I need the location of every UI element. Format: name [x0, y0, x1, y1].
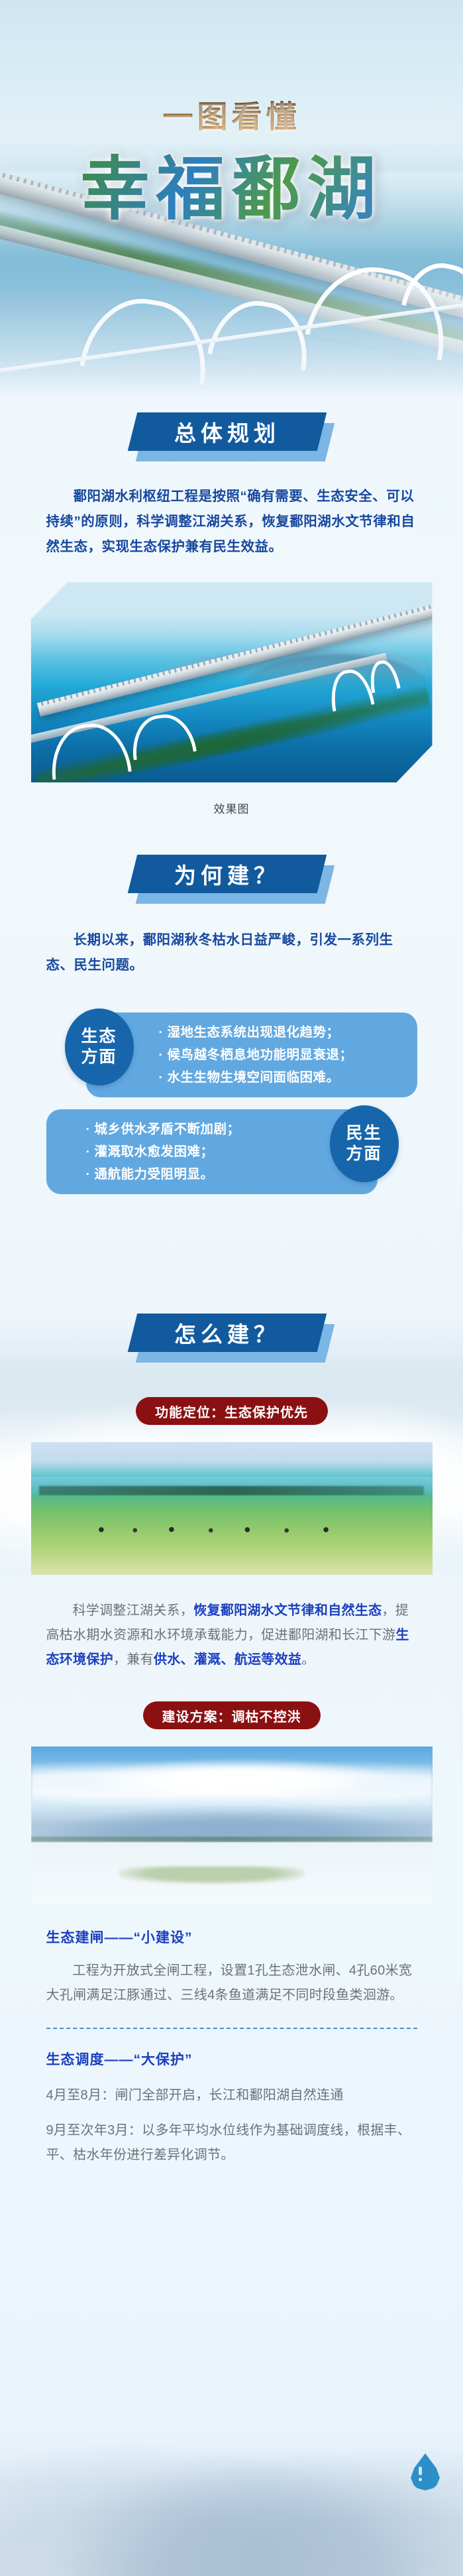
badge-main: 总体规划 — [127, 412, 326, 451]
text-run-emphasis: 恢复鄱阳湖水文节律和自然生态 — [193, 1603, 382, 1618]
render-caption: 效果图 — [0, 800, 463, 816]
list-item: 水生生物生境空间面临困难。 — [159, 1066, 405, 1089]
aspect-list-livelihood: 城乡供水矛盾不断加剧； 灌溉取水愈发困难； 通航能力受阻明显。 — [86, 1118, 305, 1186]
aspect-card-ecology: 湿地生态系统出现退化趋势； 候鸟越冬栖息地功能明显衰退； 水生生物生境空间面临困… — [46, 1009, 417, 1087]
aspect-body-ecology: 湿地生态系统出现退化趋势； 候鸟越冬栖息地功能明显衰退； 水生生物生境空间面临困… — [86, 1012, 417, 1097]
aspect-badge-line1: 生态 — [81, 1026, 117, 1047]
overall-plan-paragraph: 鄱阳湖水利枢纽工程是按照“确有需要、生态安全、可以持续”的原则，科学调整江湖关系… — [46, 484, 417, 560]
badge-main: 怎么建？ — [127, 1314, 326, 1352]
wetland-grassland-photo — [31, 1442, 433, 1575]
list-item: 湿地生态系统出现退化趋势； — [159, 1021, 405, 1044]
pill-label: 建设方案：调枯不控洪 — [162, 1706, 301, 1725]
photo-treeline — [39, 1486, 425, 1495]
function-positioning-paragraph: 科学调整江湖关系，恢复鄱阳湖水文节律和自然生态，提高枯水期水资源和水环境承载能力… — [46, 1599, 417, 1672]
hero-kicker: 一图看懂 — [0, 93, 463, 137]
water-drop-icon — [411, 2453, 440, 2490]
bottom-lake-scene — [0, 2423, 463, 2576]
aspect-list-ecology: 湿地生态系统出现退化趋势； 候鸟越冬栖息地功能明显衰退； 水生生物生境空间面临困… — [159, 1021, 405, 1089]
text-run: 。 — [301, 1652, 315, 1667]
aspect-badge-line2: 方面 — [81, 1047, 117, 1068]
eco-dispatch-line-1: 4月至8月：闸门全部开启，长江和鄱阳湖自然连通 — [46, 2083, 417, 2108]
pill-construction-plan: 建设方案：调枯不控洪 — [143, 1701, 321, 1729]
list-item: 城乡供水矛盾不断加剧； — [86, 1118, 305, 1140]
text-run: 科学调整江湖关系， — [73, 1603, 194, 1618]
subhead-eco-gate: 生态建闸——“小建设” — [46, 1927, 417, 1947]
list-item: 候鸟越冬栖息地功能明显衰退； — [159, 1044, 405, 1066]
text-run-emphasis: 供水、灌溉、航运等效益 — [154, 1652, 301, 1667]
infographic-page: 一图看懂 幸福鄱湖 总体规划 鄱阳湖水利枢纽工程是按照“确有需要、生态安全、可以… — [0, 0, 463, 2576]
photo-island — [119, 1867, 304, 1884]
subhead-eco-dispatch: 生态调度——“大保护” — [46, 2049, 417, 2069]
why-build-paragraph: 长期以来，鄱阳湖秋冬枯水日益严峻，引发一系列生态、民生问题。 — [46, 928, 417, 978]
aspect-badge-line2: 方面 — [346, 1144, 382, 1164]
photo-cattle — [79, 1524, 360, 1535]
list-item: 灌溉取水愈发困难； — [86, 1140, 305, 1163]
render-figure: 效果图 — [0, 582, 463, 816]
aspect-body-livelihood: 城乡供水矛盾不断加剧； 灌溉取水愈发困难； 通航能力受阻明显。 — [46, 1109, 378, 1194]
aspect-badge-line1: 民生 — [346, 1123, 382, 1144]
eco-dispatch-line-2: 9月至次年3月：以多年平均水位线作为基础调度线，根据丰、平、枯水年份进行差异化调… — [46, 2118, 417, 2168]
pill-function-positioning: 功能定位：生态保护优先 — [136, 1397, 328, 1425]
text-run: ，兼有 — [113, 1652, 154, 1667]
hero-banner: 一图看懂 幸福鄱湖 — [0, 0, 463, 398]
badge-label: 总体规划 — [174, 416, 280, 448]
aspect-badge-livelihood: 民生 方面 — [330, 1105, 399, 1182]
aspect-card-livelihood: 城乡供水矛盾不断加剧； 灌溉取水愈发困难； 通航能力受阻明显。 民生 方面 — [46, 1105, 417, 1184]
photo-clouds — [31, 1753, 433, 1807]
badge-main: 为何建？ — [127, 855, 326, 893]
badge-label: 怎么建？ — [174, 1317, 280, 1349]
pill-label: 功能定位：生态保护优先 — [155, 1402, 308, 1421]
aspect-badge-ecology: 生态 方面 — [65, 1009, 134, 1085]
eco-gate-paragraph: 工程为开放式全闸工程，设置1孔生态泄水闸、4孔60米宽大孔闸满足江豚通过、三线4… — [46, 1959, 417, 2008]
section-badge-how-build: 怎么建？ — [132, 1314, 331, 1363]
photo-shoreline — [31, 1837, 433, 1842]
hero-title: 幸福鄱湖 — [0, 133, 463, 233]
hero-bottom-fade — [0, 259, 463, 398]
list-item: 通航能力受阻明显。 — [86, 1163, 305, 1186]
badge-label: 为何建？ — [174, 858, 280, 890]
poyang-lake-mountain-photo — [31, 1747, 433, 1904]
section-badge-why-build: 为何建？ — [132, 855, 331, 904]
section-badge-overall-plan: 总体规划 — [132, 412, 331, 461]
dashed-divider — [46, 2028, 417, 2029]
render-image — [31, 582, 433, 782]
